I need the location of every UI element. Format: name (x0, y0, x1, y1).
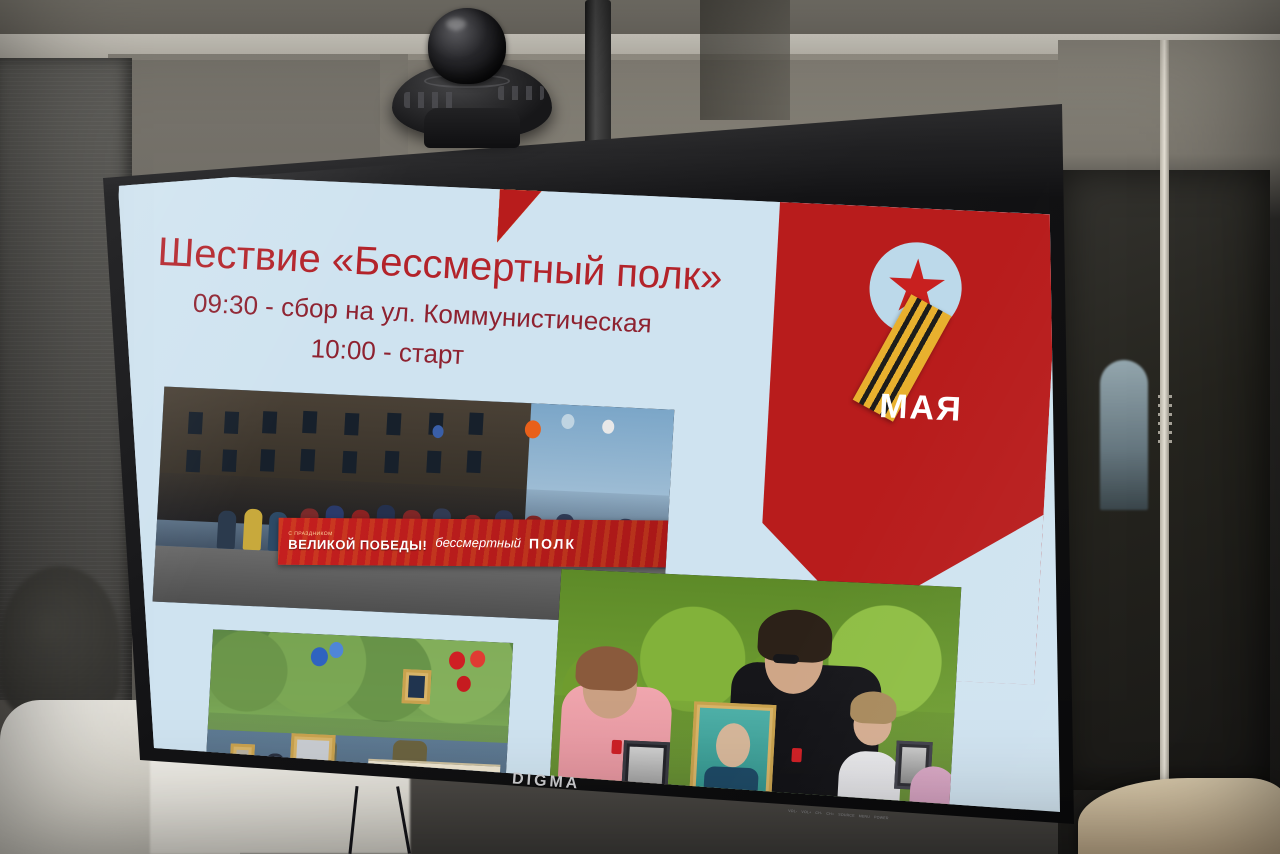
tv-control-menu[interactable]: MENU (859, 814, 871, 819)
emblem-caption: МАЯ (850, 386, 992, 431)
dome-camera-neck (424, 108, 520, 148)
screenshot-scene: МАЯ Шествие «Бессмертный полк» 09:30 - с… (0, 0, 1280, 854)
tv-control-ch-up[interactable]: CH+ (826, 812, 834, 817)
tv-control-ch-down[interactable]: CH- (815, 811, 822, 816)
photo-banner: С ПРАЗДНИКОМ ВЕЛИКОЙ ПОБЕДЫ! бессмертный… (278, 518, 674, 568)
portrait-frame (402, 669, 432, 704)
tv-brand-logo: DIGMA (511, 770, 580, 793)
dome-camera-lens (428, 8, 506, 84)
tv-control-power[interactable]: POWER (874, 815, 889, 820)
dome-camera-glint (446, 18, 466, 30)
dome-camera-buttons-right[interactable] (498, 86, 544, 100)
banner-script-text: бессмертный (436, 535, 522, 551)
presentation-slide: МАЯ Шествие «Бессмертный полк» 09:30 - с… (96, 172, 1076, 828)
banner-line-2: ЕССМЕРТН (364, 800, 459, 824)
dome-camera-buttons-left[interactable] (404, 92, 458, 108)
slide-subtitle-start: 10:00 - старт (310, 333, 465, 371)
television: МАЯ Шествие «Бессмертный полк» 09:30 - с… (0, 0, 1280, 854)
tv-control-vol-down[interactable]: VOL- (788, 809, 797, 814)
banner-big-text: ВЕЛИКОЙ ПОБЕДЫ! (288, 537, 427, 553)
9-may-emblem: МАЯ (844, 235, 1004, 432)
tv-control-source[interactable]: SOURCE (838, 813, 855, 818)
tv-screen: МАЯ Шествие «Бессмертный полк» 09:30 - с… (96, 96, 1076, 828)
tv-control-vol-up[interactable]: VOL+ (801, 810, 811, 815)
banner-polk-text: ПОЛК (529, 535, 576, 551)
